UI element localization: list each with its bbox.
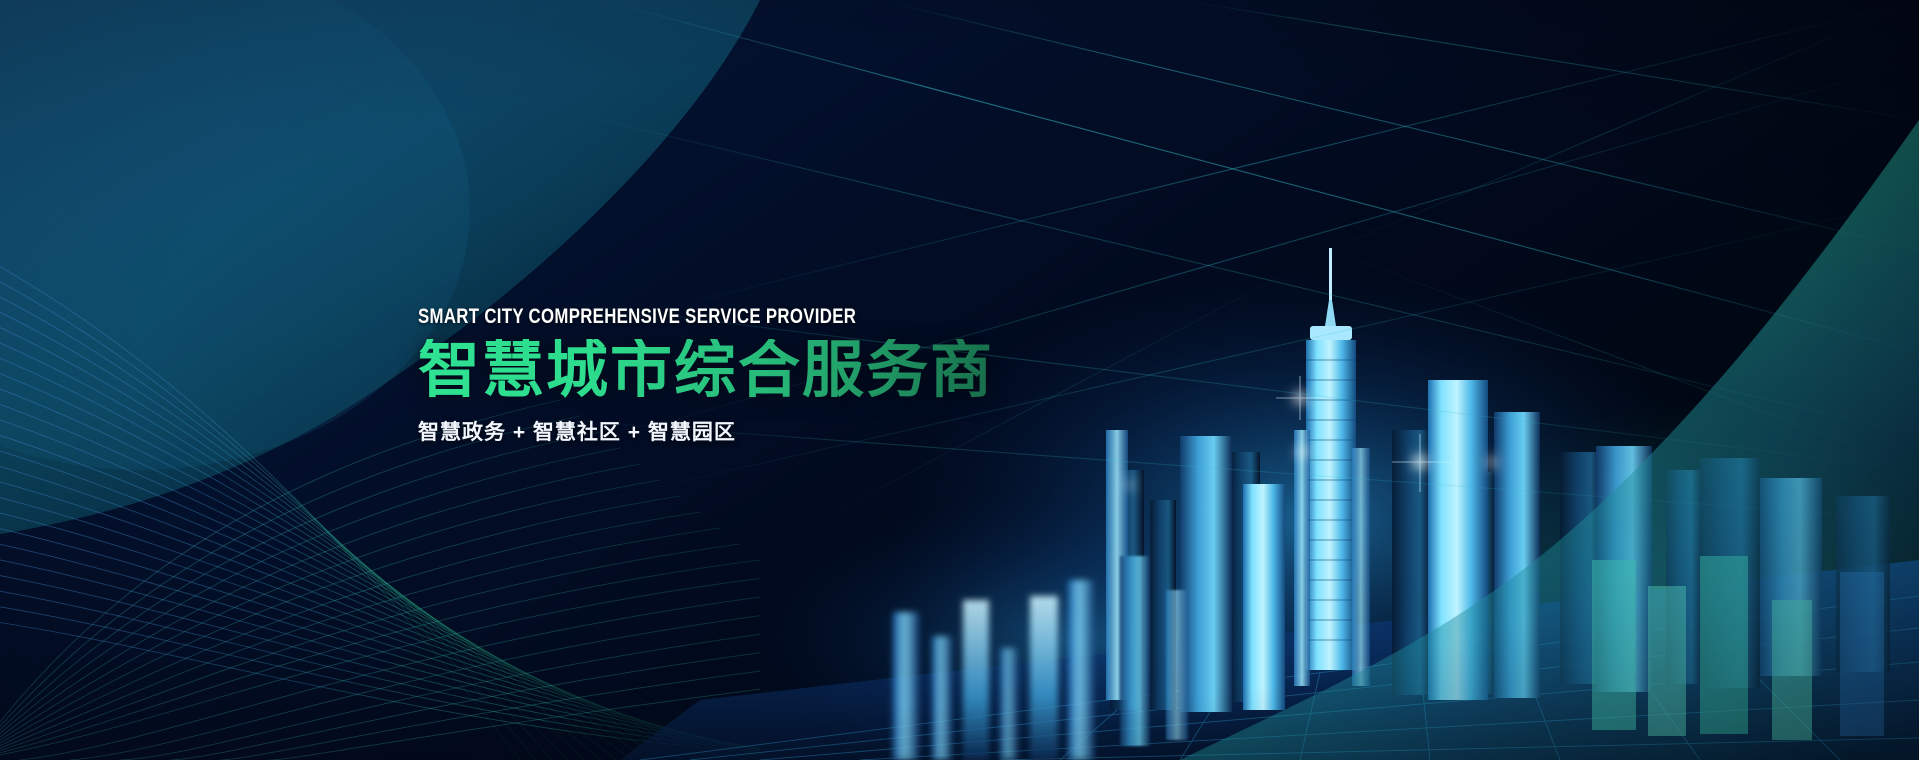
hero-text-block: SMART CITY COMPREHENSIVE SERVICE PROVIDE… xyxy=(418,305,994,446)
hero-headline-chinese: 智慧城市综合服务商 xyxy=(418,339,994,402)
hero-subline-services: 智慧政务 + 智慧社区 + 智慧园区 xyxy=(418,416,994,446)
hero-eyebrow-english: SMART CITY COMPREHENSIVE SERVICE PROVIDE… xyxy=(418,305,879,328)
hero-banner: SMART CITY COMPREHENSIVE SERVICE PROVIDE… xyxy=(0,0,1919,760)
